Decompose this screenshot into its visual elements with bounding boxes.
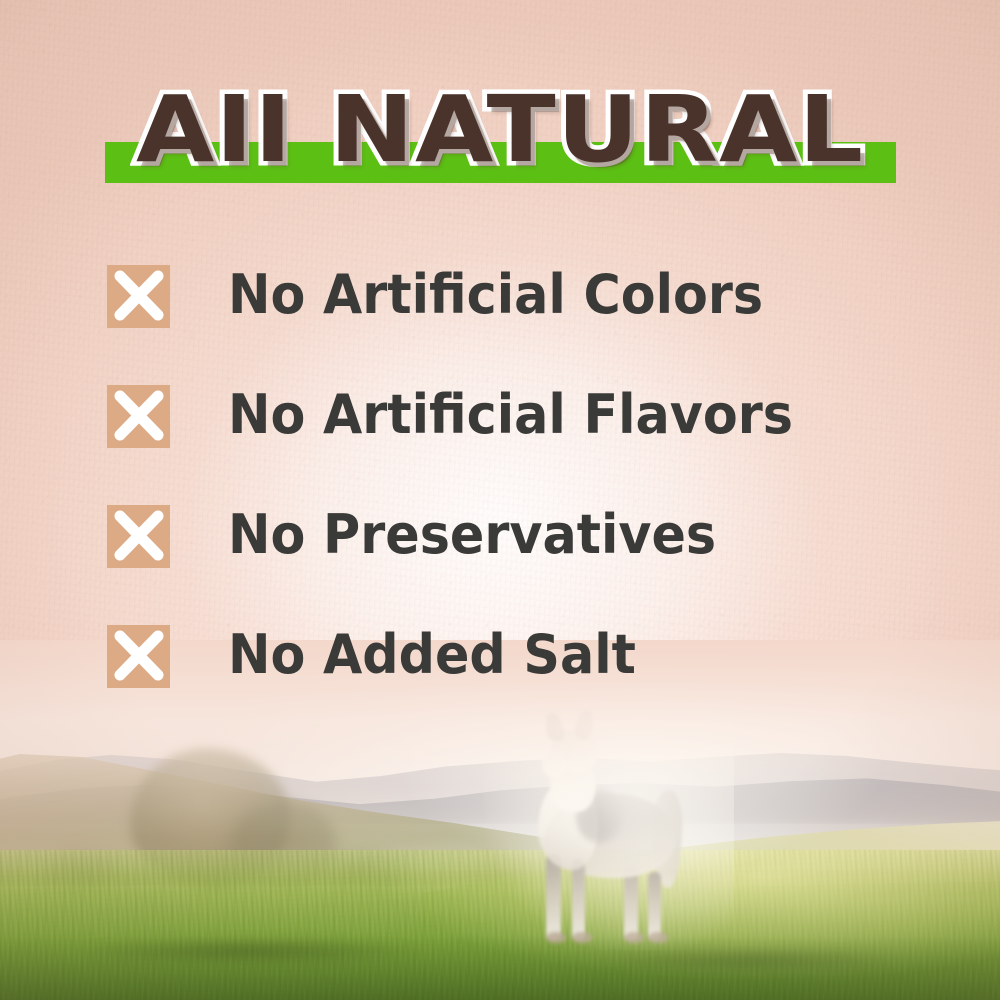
title-banner: AII NATURAL bbox=[0, 78, 1000, 190]
list-item: No Added Salt bbox=[107, 625, 927, 745]
dog-paw bbox=[572, 932, 592, 943]
claim-label: No Artificial Flavors bbox=[228, 379, 793, 451]
dog-back-right-leg bbox=[648, 872, 661, 940]
dog-paw bbox=[624, 932, 644, 943]
claim-label: No Preservatives bbox=[228, 499, 716, 571]
list-item: No Artificial Flavors bbox=[107, 385, 927, 505]
dog-front-right-leg bbox=[572, 858, 585, 940]
claims-list: No Artificial Colors No Artificial Flavo… bbox=[107, 265, 927, 745]
dog bbox=[520, 720, 700, 940]
claim-label: No Added Salt bbox=[228, 619, 636, 691]
product-feature-poster: AII NATURAL No Artificial Colors No Arti… bbox=[0, 0, 1000, 1000]
x-mark-icon bbox=[107, 265, 170, 328]
claim-label: No Artificial Colors bbox=[228, 259, 763, 331]
x-mark-icon bbox=[107, 625, 170, 688]
foreground-grass-shadow bbox=[0, 936, 1000, 1000]
dog-paw bbox=[648, 932, 668, 943]
list-item: No Artificial Colors bbox=[107, 265, 927, 385]
x-mark-icon bbox=[107, 505, 170, 568]
page-title: AII NATURAL bbox=[0, 78, 1000, 182]
list-item: No Preservatives bbox=[107, 505, 927, 625]
dog-paw bbox=[546, 932, 566, 943]
dog-muzzle bbox=[542, 752, 566, 778]
x-mark-icon bbox=[107, 385, 170, 448]
